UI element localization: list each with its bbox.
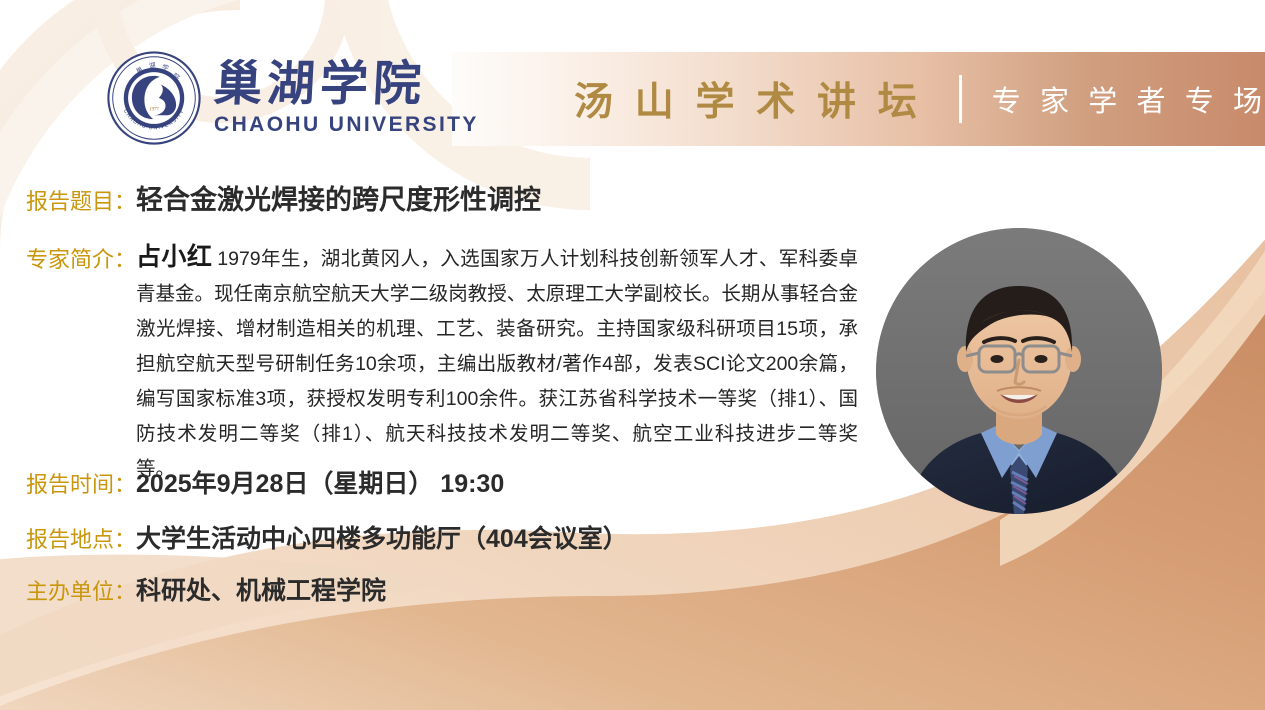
bio-label: 专家简介： (26, 240, 136, 274)
field-time-row: 报告时间： 2025年9月28日（星期日） 19:30 (26, 464, 504, 500)
speaker-portrait-image (876, 228, 1162, 514)
speaker-name: 占小红 (136, 243, 212, 271)
lecture-time: 2025年9月28日（星期日） 19:30 (136, 464, 504, 500)
place-label: 报告地点： (26, 522, 136, 554)
field-host-row: 主办单位： 科研处、机械工程学院 (26, 571, 386, 607)
field-bio-row: 专家简介： 占小红1979年生，湖北黄冈人，入选国家万人计划科技创新领军人才、军… (26, 240, 886, 487)
field-place-row: 报告地点： 大学生活动中心四楼多功能厅（404会议室） (26, 519, 628, 555)
lecture-host: 科研处、机械工程学院 (136, 571, 386, 607)
lecture-title: 轻合金激光焊接的跨尺度形性调控 (136, 178, 541, 217)
bio-text: 1979年生，湖北黄冈人，入选国家万人计划科技创新领军人才、军科委卓青基金。现任… (136, 248, 858, 480)
speaker-portrait (876, 228, 1162, 514)
seminar-poster: 汤 山 学 术 讲 坛 专 家 学 者 专 场 1977 CHAOHU UNIV… (0, 0, 1265, 710)
bio-body: 占小红1979年生，湖北黄冈人，入选国家万人计划科技创新领军人才、军科委卓青基金… (136, 240, 858, 487)
host-label: 主办单位： (26, 574, 136, 606)
title-label: 报告题目： (26, 184, 136, 216)
lecture-place: 大学生活动中心四楼多功能厅（404会议室） (136, 519, 628, 555)
time-label: 报告时间： (26, 467, 136, 499)
field-title-row: 报告题目： 轻合金激光焊接的跨尺度形性调控 (26, 178, 541, 217)
